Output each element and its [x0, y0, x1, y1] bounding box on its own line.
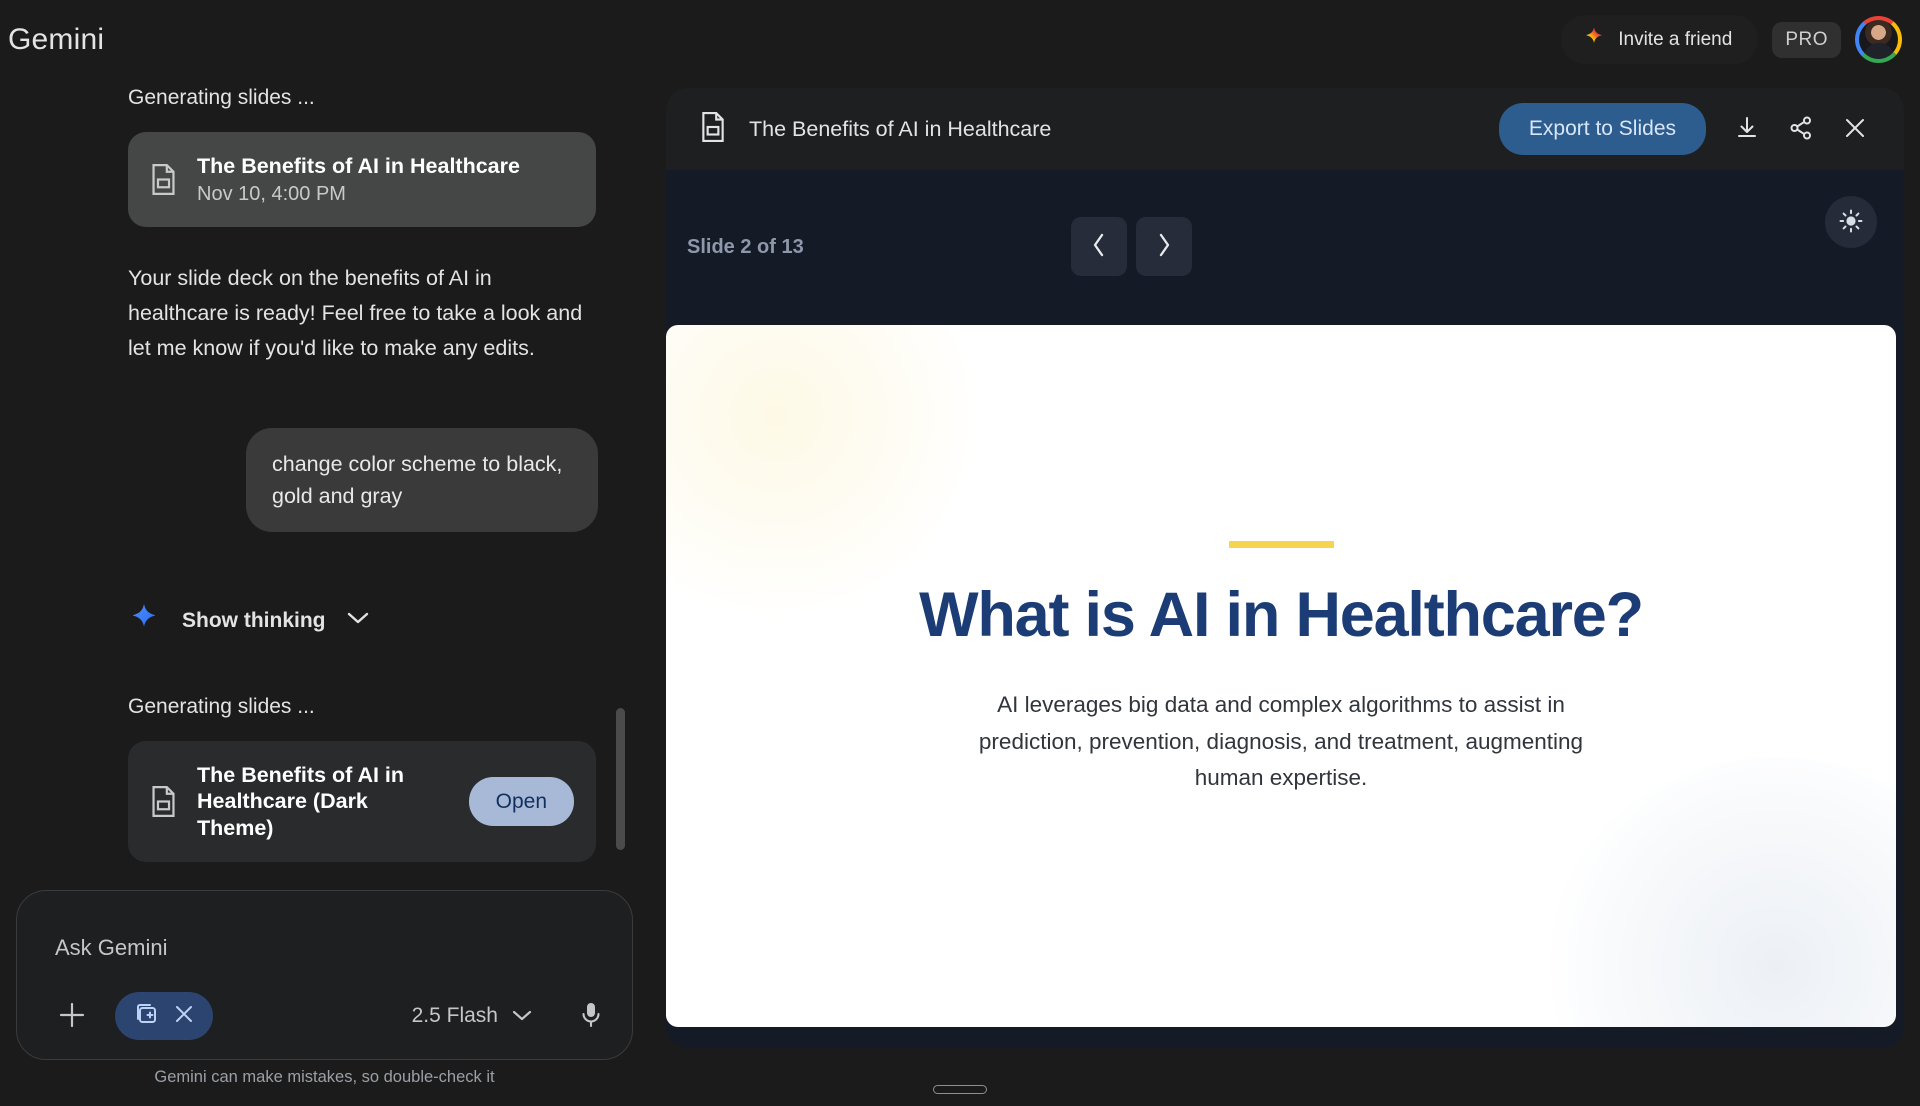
slide-title: What is AI in Healthcare?: [919, 581, 1643, 649]
slides-document-icon: [150, 786, 177, 817]
slide-content: What is AI in Healthcare? AI leverages b…: [666, 325, 1896, 1027]
brightness-toggle-button[interactable]: [1825, 196, 1877, 248]
status-generating-slides-1: Generating slides ...: [128, 86, 620, 110]
slide-accent-bar: [1229, 541, 1334, 548]
chat-scrollbar-thumb[interactable]: [616, 708, 625, 850]
attached-slides-chip[interactable]: [115, 992, 213, 1040]
canvas-title: The Benefits of AI in Healthcare: [749, 117, 1051, 142]
document-card-light[interactable]: The Benefits of AI in Healthcare Nov 10,…: [128, 132, 596, 227]
model-selector-label: 2.5 Flash: [412, 1004, 498, 1028]
invite-a-friend-button[interactable]: Invite a friend: [1561, 15, 1758, 64]
top-bar-actions: Invite a friend PRO: [1561, 15, 1902, 64]
sparkle-icon: [1583, 26, 1605, 54]
composer-placeholder[interactable]: Ask Gemini: [55, 935, 167, 961]
slide-nav-group: [1071, 217, 1192, 276]
document-card-title: The Benefits of AI in Healthcare: [197, 153, 574, 179]
invite-button-label: Invite a friend: [1618, 29, 1732, 51]
document-card-text: The Benefits of AI in Healthcare (Dark T…: [197, 762, 449, 841]
avatar-image: [1859, 20, 1898, 59]
gemini-sparkle-icon: [128, 602, 160, 639]
previous-slide-button[interactable]: [1071, 217, 1127, 276]
document-card-text: The Benefits of AI in Healthcare Nov 10,…: [197, 153, 574, 206]
composer-toolbar: 2.5 Flash: [17, 973, 632, 1059]
model-selector[interactable]: 2.5 Flash: [412, 1004, 532, 1028]
show-thinking-label: Show thinking: [182, 609, 325, 633]
open-document-button[interactable]: Open: [469, 777, 574, 826]
close-icon: [1842, 115, 1868, 144]
resize-handle[interactable]: [933, 1085, 987, 1094]
share-button[interactable]: [1774, 102, 1828, 156]
document-card-title: The Benefits of AI in Healthcare (Dark T…: [197, 762, 449, 841]
chevron-down-icon: [347, 611, 369, 630]
canvas-panel: The Benefits of AI in Healthcare Export …: [666, 88, 1904, 1048]
gemini-app-window: Gemini: [0, 0, 1920, 1106]
pro-badge[interactable]: PRO: [1772, 22, 1841, 58]
composer-disclaimer: Gemini can make mistakes, so double-chec…: [16, 1068, 633, 1087]
deck-viewer: Slide 2 of 13: [666, 170, 1904, 1048]
close-icon[interactable]: [173, 1003, 195, 1030]
app-brand-title: Gemini: [8, 23, 104, 57]
slides-document-icon: [700, 112, 726, 147]
chevron-down-icon: [512, 1004, 532, 1028]
slide-body-text: AI leverages big data and complex algori…: [961, 687, 1601, 796]
microphone-icon: [578, 1000, 604, 1033]
status-generating-slides-2: Generating slides ...: [128, 695, 620, 719]
slide-counter: Slide 2 of 13: [687, 236, 804, 259]
deck-toolbar: Slide 2 of 13: [666, 170, 1904, 325]
plus-icon: [57, 1000, 87, 1033]
user-message-row: change color scheme to black, gold and g…: [128, 428, 598, 533]
user-avatar[interactable]: [1855, 16, 1902, 63]
assistant-message: Your slide deck on the benefits of AI in…: [128, 261, 598, 365]
next-slide-button[interactable]: [1136, 217, 1192, 276]
download-icon: [1734, 115, 1760, 144]
add-slides-icon: [133, 1001, 159, 1032]
microphone-button[interactable]: [578, 1000, 604, 1033]
canvas-header: The Benefits of AI in Healthcare Export …: [666, 88, 1904, 170]
user-message-bubble: change color scheme to black, gold and g…: [246, 428, 598, 533]
composer: Ask Gemini: [16, 890, 633, 1060]
chevron-right-icon: [1156, 232, 1172, 261]
document-card-dark-theme[interactable]: The Benefits of AI in Healthcare (Dark T…: [128, 741, 596, 862]
top-bar: Gemini: [0, 0, 1920, 86]
share-icon: [1788, 115, 1814, 144]
export-to-slides-button[interactable]: Export to Slides: [1499, 103, 1706, 155]
slide-canvas[interactable]: What is AI in Healthcare? AI leverages b…: [666, 325, 1896, 1027]
download-button[interactable]: [1720, 102, 1774, 156]
brightness-icon: [1838, 208, 1864, 237]
chevron-left-icon: [1091, 232, 1107, 261]
add-attachment-button[interactable]: [57, 1000, 87, 1033]
document-card-subtitle: Nov 10, 4:00 PM: [197, 183, 574, 206]
show-thinking-toggle[interactable]: Show thinking: [128, 602, 369, 639]
slides-document-icon: [150, 164, 177, 195]
close-canvas-button[interactable]: [1828, 102, 1882, 156]
